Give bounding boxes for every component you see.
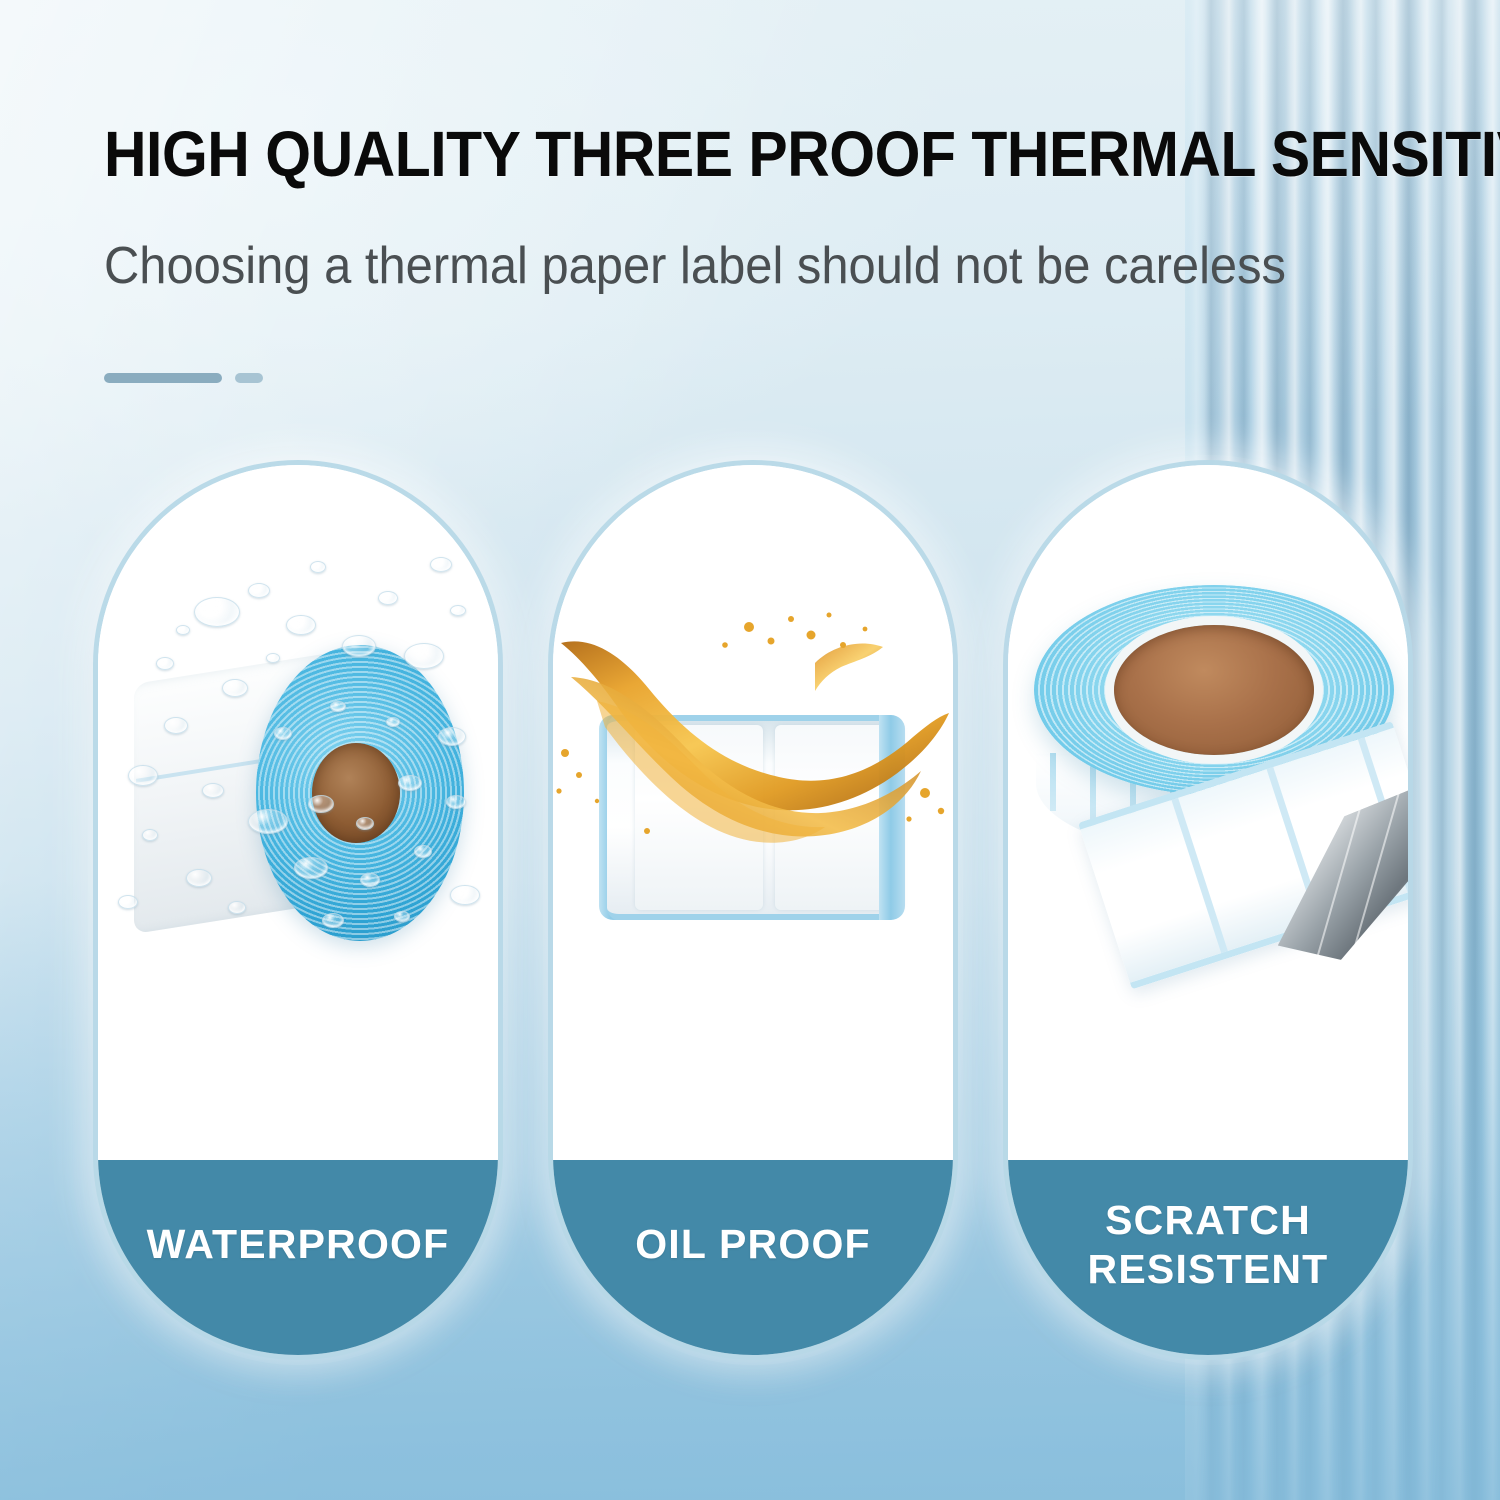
water-droplet [286, 615, 316, 635]
water-droplet [164, 717, 188, 734]
water-droplet [194, 597, 240, 627]
water-droplet [142, 829, 158, 841]
oil-proof-label: OIL PROOF [635, 1220, 871, 1268]
waterproof-label-band: WATERPROOF [98, 1160, 498, 1355]
water-droplet [342, 635, 376, 657]
product-infographic-poster: HIGH QUALITY THREE PROOF THERMAL SENSITI… [0, 0, 1500, 1500]
feature-card-scratch-resistent[interactable]: SCRATCH RESISTENT [1008, 465, 1408, 1355]
scratch-resistent-label: SCRATCH RESISTENT [1088, 1196, 1329, 1293]
water-droplet [450, 605, 466, 616]
water-droplet [378, 591, 398, 605]
water-droplet [394, 911, 410, 922]
water-droplet [414, 845, 432, 858]
water-droplet [438, 727, 466, 746]
oil-proof-photo [553, 465, 953, 1160]
water-droplet [322, 913, 344, 928]
water-droplet [430, 557, 452, 572]
water-droplet [446, 795, 466, 809]
label-separator [1050, 753, 1056, 811]
water-droplet [186, 869, 212, 887]
water-droplet [310, 561, 326, 573]
feature-card-row: WATERPROOF [0, 0, 1500, 1500]
label-roll-tilted-icon [134, 645, 464, 945]
water-droplet [128, 765, 158, 786]
water-droplet [176, 625, 190, 635]
water-droplet [398, 775, 422, 791]
water-droplet [330, 701, 346, 712]
water-droplet [294, 857, 328, 879]
water-droplet [386, 717, 400, 727]
water-droplet [450, 885, 480, 905]
oil-proof-label-band: OIL PROOF [553, 1160, 953, 1355]
water-droplet [274, 727, 292, 740]
water-droplet [202, 783, 224, 798]
scratch-resistent-photo [1008, 465, 1408, 1160]
waterproof-label: WATERPROOF [147, 1220, 450, 1268]
scratch-resistent-label-band: SCRATCH RESISTENT [1008, 1160, 1408, 1355]
water-droplet [360, 873, 380, 887]
water-droplet [118, 895, 138, 909]
water-droplet [308, 795, 334, 813]
feature-card-waterproof[interactable]: WATERPROOF [98, 465, 498, 1355]
water-droplet [266, 653, 280, 663]
water-droplet [248, 809, 288, 834]
water-droplet [222, 679, 248, 697]
water-droplet [356, 817, 374, 830]
water-droplet [248, 583, 270, 598]
feature-card-oil-proof[interactable]: OIL PROOF [553, 465, 953, 1355]
water-droplet [404, 643, 444, 669]
water-droplet [228, 901, 246, 914]
oil-splash-icon [553, 605, 953, 935]
water-droplet [156, 657, 174, 670]
waterproof-photo [98, 465, 498, 1160]
